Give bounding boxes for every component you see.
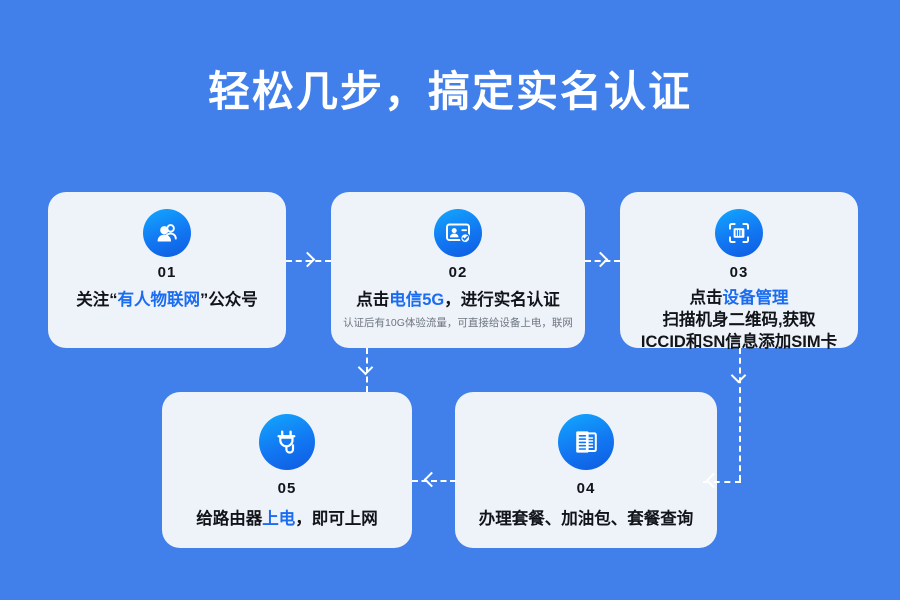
step-card-04[interactable]: 04 办理套餐、加油包、套餐查询	[455, 392, 717, 548]
step-card-02[interactable]: 02 点击电信5G，进行实名认证 认证后有10G体验流量，可直接给设备上电，联网	[331, 192, 585, 348]
plain-text: 扫描机身二维码,获取	[662, 311, 815, 329]
connector-04-to-05	[412, 480, 456, 482]
connector-02-to-03	[585, 260, 620, 262]
id-card-verified-icon	[434, 209, 482, 257]
infographic-canvas: 轻松几步，搞定实名认证 01 关注“有人物联网”公众号 02	[0, 0, 900, 600]
arrow-down-icon	[358, 360, 374, 376]
step-number: 04	[577, 480, 596, 498]
plain-text: 点击	[689, 289, 722, 307]
step-card-03[interactable]: 03 点击设备管理扫描机身二维码,获取ICCID和SN信息添加SIM卡	[620, 192, 858, 348]
barcode-scanner-icon	[715, 209, 763, 257]
step-text: 办理套餐、加油包、套餐查询	[471, 508, 702, 531]
users-group-icon	[143, 209, 191, 257]
connector-02-downward	[366, 348, 368, 392]
step-number: 05	[278, 480, 297, 498]
highlighted-text: 有人物联网	[118, 291, 201, 309]
plain-text: ，即可上网	[295, 510, 378, 528]
step-text: 点击电信5G，进行实名认证	[348, 289, 568, 312]
step-text: 点击设备管理扫描机身二维码,获取ICCID和SN信息添加SIM卡	[633, 287, 845, 353]
step-number: 02	[449, 264, 468, 282]
step-text: 关注“有人物联网”公众号	[68, 289, 266, 312]
step-number: 03	[730, 264, 749, 282]
step-subtitle: 认证后有10G体验流量，可直接给设备上电，联网	[343, 316, 573, 331]
arrow-left-icon	[424, 472, 440, 488]
plain-text: ”公众号	[200, 291, 258, 309]
step-number: 01	[158, 264, 177, 282]
arrow-right-icon	[300, 252, 316, 268]
power-plug-icon	[259, 414, 315, 470]
highlighted-text: 设备管理	[722, 289, 788, 307]
plain-text: 办理套餐、加油包、套餐查询	[479, 510, 694, 528]
plain-text: 给路由器	[196, 510, 262, 528]
step-text: 给路由器上电，即可上网	[188, 508, 386, 531]
documents-list-icon	[558, 414, 614, 470]
plain-text: 关注“	[76, 291, 117, 309]
highlighted-text: 电信5G	[389, 291, 444, 309]
step-card-05[interactable]: 05 给路由器上电，即可上网	[162, 392, 412, 548]
step-card-01[interactable]: 01 关注“有人物联网”公众号	[48, 192, 286, 348]
arrow-down-icon	[731, 368, 747, 384]
plain-text: 点击	[356, 291, 389, 309]
connector-03-to-04	[739, 348, 741, 483]
connector-01-to-02	[286, 260, 331, 262]
plain-text: ，进行实名认证	[444, 291, 560, 309]
page-title: 轻松几步，搞定实名认证	[0, 64, 900, 120]
highlighted-text: 上电	[262, 510, 295, 528]
arrow-right-icon	[593, 252, 609, 268]
